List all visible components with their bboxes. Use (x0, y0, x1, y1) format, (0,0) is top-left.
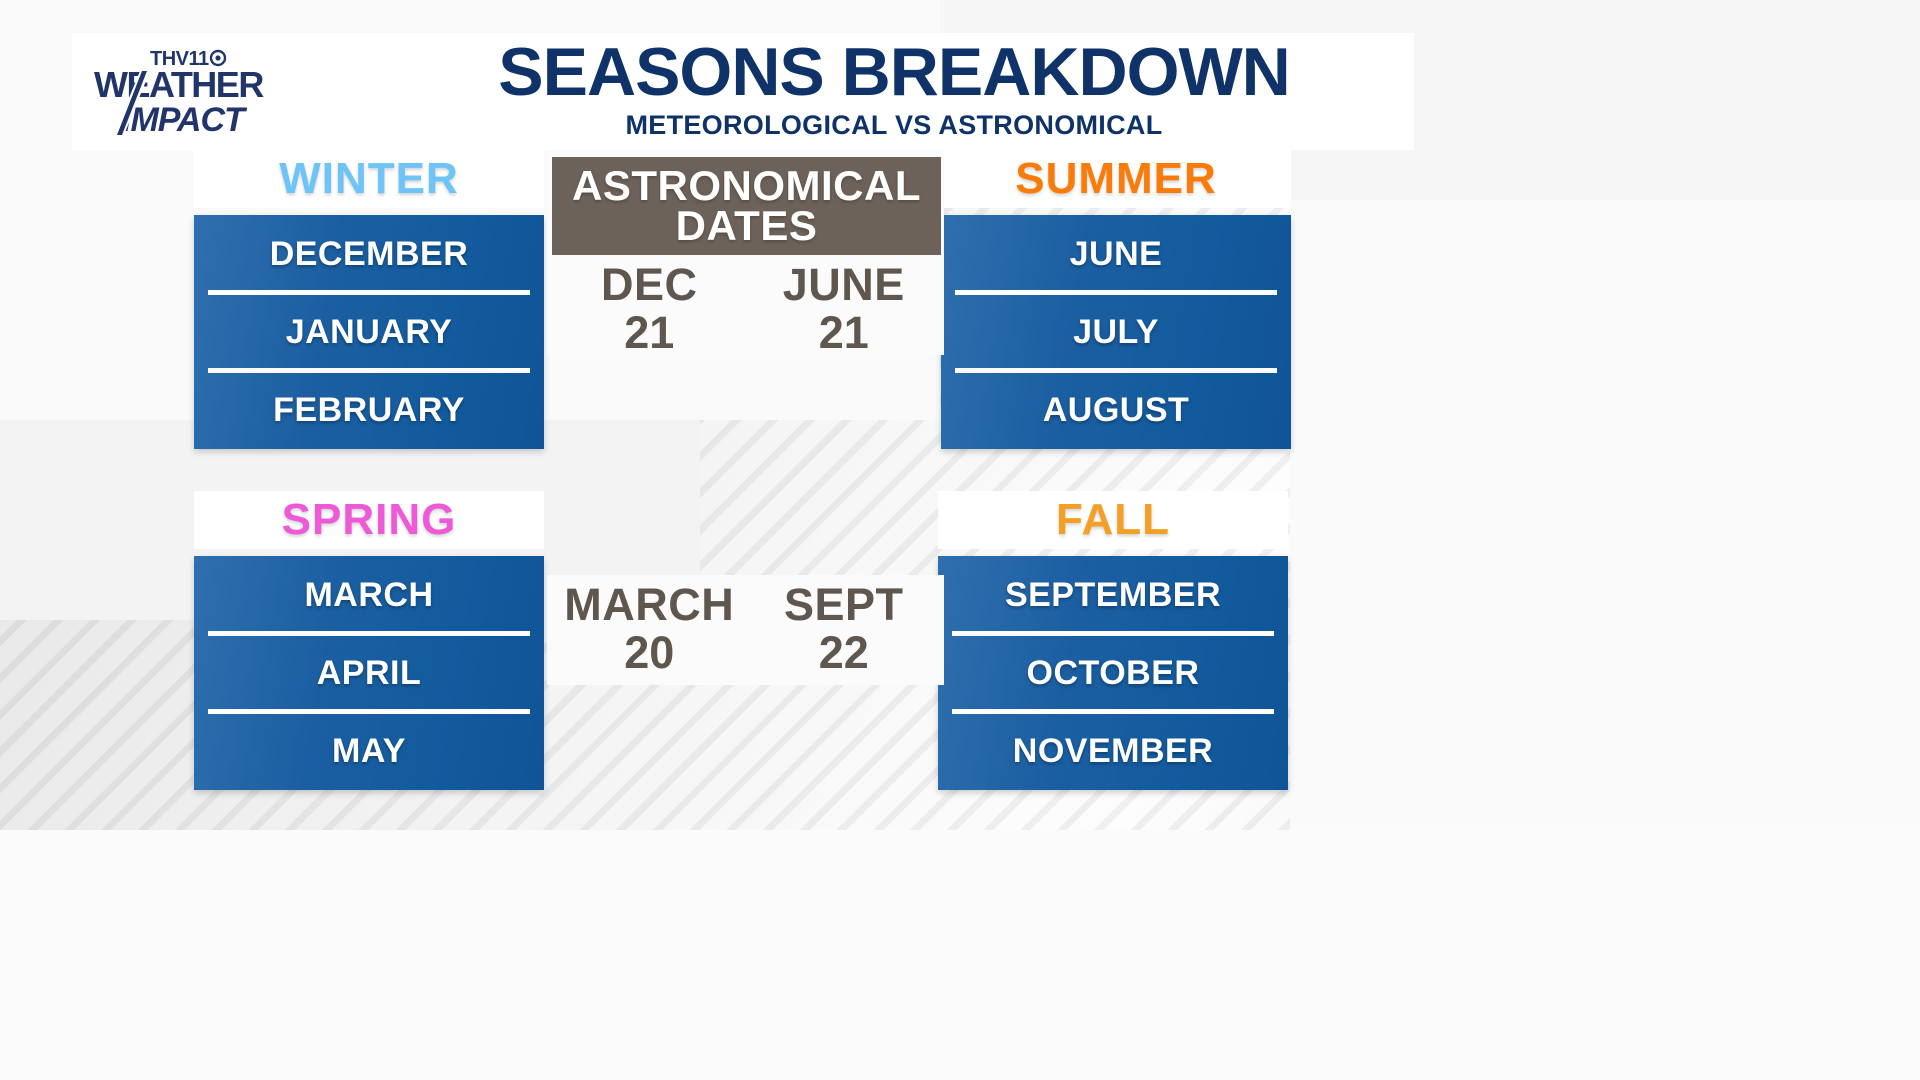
astronomical-date-month: MARCH (552, 582, 747, 627)
astronomical-date-day: 21 (747, 310, 942, 355)
season-block-summer: SUMMER JUNE JULY AUGUST (941, 150, 1291, 449)
logo-impact-text: IMPACT (122, 101, 248, 139)
month-row: NOVEMBER (938, 712, 1288, 790)
astronomical-date-month: DEC (552, 262, 747, 307)
month-list-fall: SEPTEMBER OCTOBER NOVEMBER (938, 556, 1288, 790)
season-header-spring: SPRING (194, 491, 544, 549)
month-list-summer: JUNE JULY AUGUST (941, 215, 1291, 449)
month-label: DECEMBER (270, 235, 469, 274)
astronomical-date-month: SEPT (747, 582, 942, 627)
month-row: JUNE (941, 215, 1291, 293)
month-label: JUNE (1070, 235, 1163, 274)
page-title: SEASONS BREAKDOWN (374, 37, 1414, 108)
month-label: MARCH (304, 576, 433, 615)
month-row: MAY (194, 712, 544, 790)
month-label: JANUARY (286, 313, 453, 352)
season-block-fall: FALL SEPTEMBER OCTOBER NOVEMBER (938, 491, 1288, 790)
month-label: AUGUST (1043, 391, 1190, 430)
astronomical-date-day: 21 (552, 310, 747, 355)
astronomical-date-month: JUNE (747, 262, 942, 307)
month-list-winter: DECEMBER JANUARY FEBRUARY (194, 215, 544, 449)
season-block-spring: SPRING MARCH APRIL MAY (194, 491, 544, 790)
month-label: APRIL (317, 654, 422, 693)
astronomical-dates-spring-fall: MARCH 20 SEPT 22 (552, 582, 941, 675)
astronomical-dates-winter-summer: DEC 21 JUNE 21 (552, 262, 941, 355)
month-row: DECEMBER (194, 215, 544, 293)
month-label: JULY (1073, 313, 1159, 352)
season-title-fall: FALL (1056, 495, 1170, 545)
month-row: SEPTEMBER (938, 556, 1288, 634)
month-row: APRIL (194, 634, 544, 712)
month-row: JANUARY (194, 293, 544, 371)
season-header-winter: WINTER (194, 150, 544, 208)
astronomical-header-text: ASTRONOMICAL DATES (572, 166, 921, 246)
page-subtitle: METEOROLOGICAL VS ASTRONOMICAL (374, 110, 1414, 141)
astronomical-header-line2: DATES (676, 202, 818, 249)
month-row: OCTOBER (938, 634, 1288, 712)
month-row: AUGUST (941, 371, 1291, 449)
background-clear-panel (0, 830, 1920, 1080)
astronomical-date-day: 20 (552, 630, 747, 675)
month-list-spring: MARCH APRIL MAY (194, 556, 544, 790)
month-label: SEPTEMBER (1005, 576, 1221, 615)
month-label: NOVEMBER (1013, 732, 1213, 771)
month-row: MARCH (194, 556, 544, 634)
astronomical-date-spring: MARCH 20 (552, 582, 747, 675)
season-title-winter: WINTER (279, 154, 459, 204)
month-row: JULY (941, 293, 1291, 371)
background-clear-panel (1290, 200, 1920, 830)
astronomical-date-winter: DEC 21 (552, 262, 747, 355)
astronomical-date-summer: JUNE 21 (747, 262, 942, 355)
logo-weather-text: WEATHER (94, 64, 264, 105)
month-row: FEBRUARY (194, 371, 544, 449)
month-label: FEBRUARY (273, 391, 465, 430)
season-block-winter: WINTER DECEMBER JANUARY FEBRUARY (194, 150, 544, 449)
season-header-summer: SUMMER (941, 150, 1291, 208)
astronomical-date-day: 22 (747, 630, 942, 675)
astronomical-dates-header: ASTRONOMICAL DATES (552, 157, 941, 255)
astronomical-date-fall: SEPT 22 (747, 582, 942, 675)
month-label: OCTOBER (1027, 654, 1200, 693)
month-label: MAY (332, 732, 406, 771)
thv11-weather-impact-logo: THV11 WEATHER IMPACT (92, 43, 302, 143)
season-title-summer: SUMMER (1015, 154, 1217, 204)
season-header-fall: FALL (938, 491, 1288, 549)
season-title-spring: SPRING (282, 495, 457, 545)
